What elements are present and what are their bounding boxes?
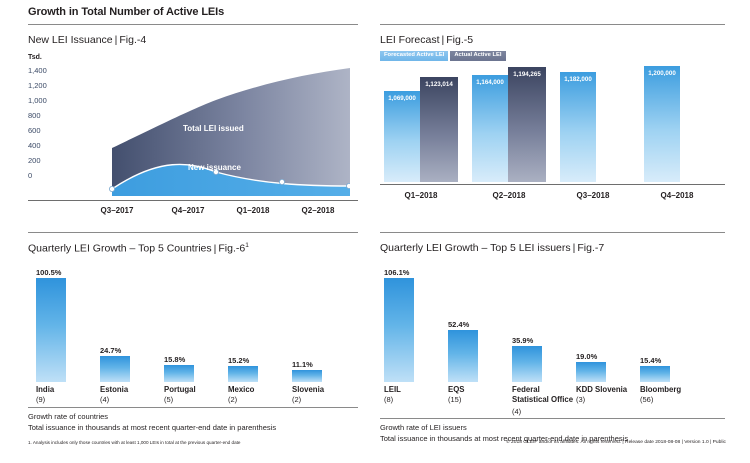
x-axis-line-fig4 [28, 200, 358, 201]
bar-value-slovenia: 11.1% [292, 360, 313, 369]
bar-value-kdd-slovenia: 19.0% [576, 352, 597, 361]
panel-divider [28, 232, 358, 233]
data-point-q3-2017 [109, 186, 114, 191]
bar-q2-2018-forecast: 1,164,000 [472, 75, 508, 182]
category-label-kdd-slovenia: KDD Slovenia [576, 385, 627, 395]
y-tick-1000: 1,000 [28, 96, 56, 105]
figure-number: Fig.-6 [218, 243, 245, 255]
category-sublabel-mexico: (2) [228, 395, 237, 404]
report-page: Growth in Total Number of Active LEIs Ne… [0, 0, 750, 463]
footnote-marker: 1 [245, 242, 249, 249]
bar-estonia [100, 356, 130, 382]
category-label-eqs: EQS [448, 385, 464, 395]
panel-divider [380, 232, 725, 233]
series-label-total-lei-issued: Total LEI issued [183, 124, 244, 133]
bar-leil [384, 278, 414, 382]
x-tick-q4-2017: Q4–2017 [153, 206, 223, 215]
bar-kdd-slovenia [576, 362, 606, 382]
note-growth-rate: Growth rate of LEI issuers [380, 423, 467, 434]
bar-q4-2018-forecast: 1,200,000 [644, 66, 680, 182]
bar-value-label: 1,194,265 [508, 71, 546, 78]
bar-value-portugal: 15.8% [164, 355, 185, 364]
panel-title-text: Quarterly LEI Growth – Top 5 LEI issuers [380, 242, 571, 254]
panel-title-text: New LEI Issuance [28, 34, 113, 46]
bar-federal-statistical-office [512, 346, 542, 382]
x-tick-q1-2018: Q1–2018 [386, 191, 456, 200]
x-axis-line-fig5 [380, 184, 725, 185]
panel-title-text: LEI Forecast [380, 34, 440, 46]
bar-value-federal-statistical-office: 35.9% [512, 336, 533, 345]
y-tick-600: 600 [28, 126, 56, 135]
category-label-estonia: Estonia [100, 385, 128, 395]
page-copyright: © 2018 GLEIF and/or its affiliates. All … [506, 440, 726, 445]
panel-title-fig4: New LEI Issuance|Fig.-4 [28, 34, 146, 46]
bar-value-label: 1,123,014 [420, 81, 458, 88]
category-label-mexico: Mexico [228, 385, 254, 395]
bar-bloomberg [640, 366, 670, 382]
legend-fig5: Forecasted Active LEI Actual Active LEI [380, 51, 506, 61]
y-tick-0: 0 [28, 171, 56, 180]
bar-portugal [164, 365, 194, 382]
bar-value-label: 1,164,000 [472, 79, 508, 86]
x-tick-q2-2018: Q2–2018 [283, 206, 353, 215]
bar-value-eqs: 52.4% [448, 320, 469, 329]
x-tick-q3-2017: Q3–2017 [82, 206, 152, 215]
figure-number: Fig.-5 [446, 34, 473, 46]
data-point-q1-2018 [279, 179, 284, 184]
category-label-india: India [36, 385, 54, 395]
bar-value-india: 100.5% [36, 268, 61, 277]
y-tick-200: 200 [28, 156, 56, 165]
y-tick-800: 800 [28, 111, 56, 120]
page-title: Growth in Total Number of Active LEIs [28, 6, 224, 18]
bar-q3-2018-forecast: 1,182,000 [560, 72, 596, 182]
panel-new-lei-issuance: New LEI Issuance|Fig.-4 Tsd. 1,400 1,200… [28, 24, 358, 224]
notes-divider [380, 418, 725, 419]
category-sublabel-bloomberg: (56) [640, 395, 653, 404]
category-label-federal-statistical-office: Federal Statistical Office [512, 385, 574, 404]
y-tick-1200: 1,200 [28, 81, 56, 90]
category-label-leil: LEIL [384, 385, 401, 395]
category-label-bloomberg: Bloomberg [640, 385, 681, 395]
note-growth-rate: Growth rate of countries [28, 412, 108, 423]
category-sublabel-india: (9) [36, 395, 45, 404]
notes-divider [28, 407, 358, 408]
bar-value-label: 1,200,000 [644, 70, 680, 77]
panel-divider [28, 24, 358, 25]
category-sublabel-federal-statistical-office: (4) [512, 407, 521, 416]
bar-india [36, 278, 66, 382]
bar-q1-2018-actual: 1,123,014 [420, 77, 458, 182]
panel-title-fig6: Quarterly LEI Growth – Top 5 Countries|F… [28, 242, 249, 255]
x-tick-q1-2018: Q1–2018 [218, 206, 288, 215]
panel-lei-forecast: LEI Forecast|Fig.-5 Forecasted Active LE… [380, 24, 725, 224]
x-tick-q3-2018: Q3–2018 [558, 191, 628, 200]
series-label-new-issuance: New issuance [188, 163, 241, 172]
bar-chart-fig5: 1,069,000 1,123,014 1,164,000 1,194,265 … [380, 64, 725, 182]
panel-title-text: Quarterly LEI Growth – Top 5 Countries [28, 243, 212, 255]
bar-value-label: 1,182,000 [560, 76, 596, 83]
page-footnote: 1. Analysis includes only those countrie… [28, 440, 240, 445]
bar-eqs [448, 330, 478, 382]
bar-chart-fig7 [380, 260, 725, 382]
bar-value-label: 1,069,000 [384, 95, 420, 102]
category-sublabel-slovenia: (2) [292, 395, 301, 404]
legend-item-forecasted-active-lei: Forecasted Active LEI [380, 51, 448, 61]
category-sublabel-eqs: (15) [448, 395, 461, 404]
data-point-q2-2018 [346, 183, 350, 188]
y-axis-unit: Tsd. [28, 54, 42, 61]
category-sublabel-estonia: (4) [100, 395, 109, 404]
bar-q1-2018-forecast: 1,069,000 [384, 91, 420, 182]
panel-top5-countries: Quarterly LEI Growth – Top 5 Countries|F… [28, 232, 358, 427]
x-tick-q4-2018: Q4–2018 [642, 191, 712, 200]
bar-value-bloomberg: 15.4% [640, 356, 661, 365]
bar-value-mexico: 15.2% [228, 356, 249, 365]
category-sublabel-leil: (8) [384, 395, 393, 404]
category-sublabel-portugal: (5) [164, 395, 173, 404]
bar-q2-2018-actual: 1,194,265 [508, 67, 546, 182]
panel-top5-lei-issuers: Quarterly LEI Growth – Top 5 LEI issuers… [380, 232, 725, 427]
bar-slovenia [292, 370, 322, 382]
figure-number: Fig.-4 [119, 34, 146, 46]
category-sublabel-kdd-slovenia: (3) [576, 395, 585, 404]
bar-value-leil: 106.1% [384, 268, 409, 277]
note-total-issuance: Total issuance in thousands at most rece… [28, 423, 276, 434]
x-tick-q2-2018: Q2–2018 [474, 191, 544, 200]
category-label-slovenia: Slovenia [292, 385, 324, 395]
figure-number: Fig.-7 [577, 242, 604, 254]
legend-item-actual-active-lei: Actual Active LEI [450, 51, 505, 61]
y-tick-400: 400 [28, 141, 56, 150]
panel-title-fig7: Quarterly LEI Growth – Top 5 LEI issuers… [380, 242, 604, 254]
bar-value-estonia: 24.7% [100, 346, 121, 355]
panel-divider [380, 24, 725, 25]
y-tick-1400: 1,400 [28, 66, 56, 75]
bar-mexico [228, 366, 258, 382]
category-label-portugal: Portugal [164, 385, 196, 395]
panel-title-fig5: LEI Forecast|Fig.-5 [380, 34, 473, 46]
